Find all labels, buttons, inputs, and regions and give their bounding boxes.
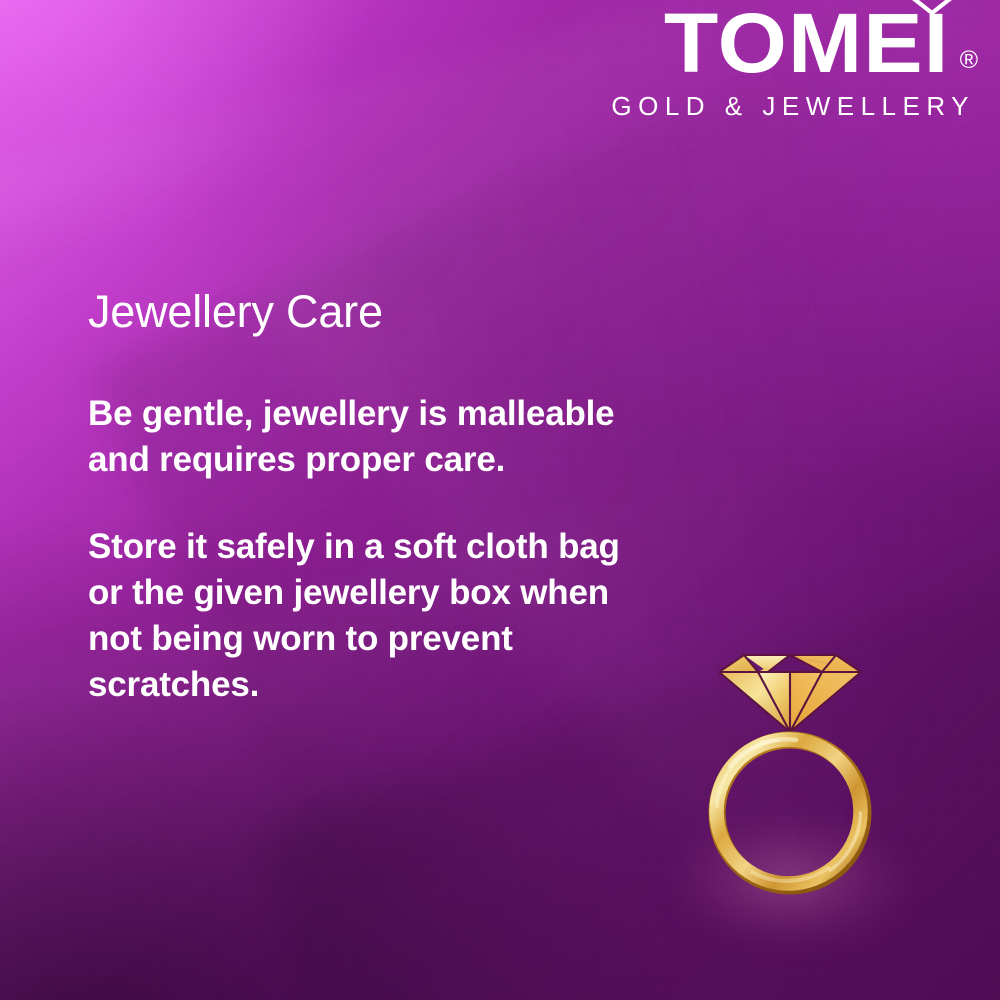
body-paragraph-1: Be gentle, jewellery is malleable and re… <box>88 391 648 483</box>
brand-tagline: GOLD & JEWELLERY <box>611 91 978 122</box>
diamond-gemstone <box>719 655 861 732</box>
poster-canvas: TOMEI ® GOLD & JEWELLERY Jewellery Care … <box>0 0 1000 1000</box>
gold-ring-band <box>717 739 864 886</box>
registered-trademark-icon: ® <box>960 48 978 73</box>
diamond-ring-illustration <box>700 640 880 900</box>
page-title: Jewellery Care <box>88 288 688 335</box>
body-paragraph-2: Store it safely in a soft cloth bag or t… <box>88 524 648 709</box>
brand-wordmark: TOMEI <box>664 8 950 79</box>
diamond-ring-graphic <box>700 640 880 900</box>
brand-logo: TOMEI ® GOLD & JEWELLERY <box>611 8 978 122</box>
copy-block: Jewellery Care Be gentle, jewellery is m… <box>88 288 688 708</box>
brand-logo-row: TOMEI ® <box>611 8 978 79</box>
